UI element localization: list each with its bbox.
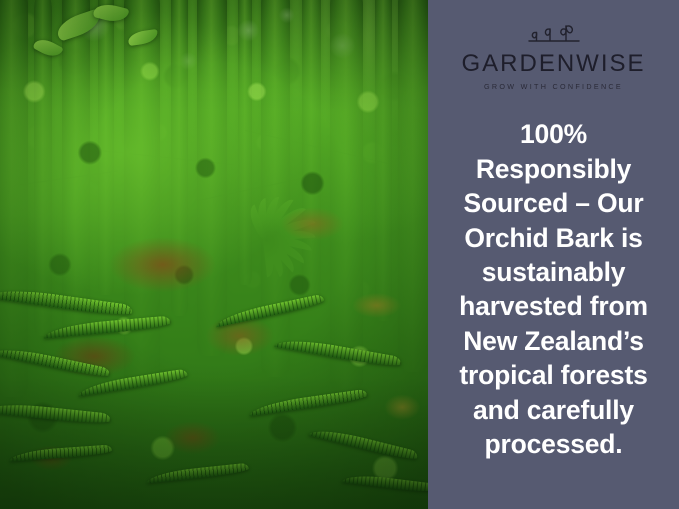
headline-line: processed. [485, 429, 623, 459]
headline-line: Responsibly [476, 154, 631, 184]
brand-tagline: GROW WITH CONFIDENCE [484, 82, 623, 91]
three-sprouting-plants-icon [519, 20, 589, 48]
headline-line: New Zealand’s [463, 326, 644, 356]
forest-photo [0, 0, 428, 509]
brand-logo: GARDENWISE GROW WITH CONFIDENCE [428, 20, 679, 91]
headline-text: 100%ResponsiblySourced – OurOrchid Bark … [428, 117, 679, 461]
brand-name: GARDENWISE [461, 51, 645, 76]
headline-line: and carefully [473, 395, 634, 425]
headline-line: sustainably [482, 257, 626, 287]
headline-line: Sourced – Our [463, 188, 643, 218]
headline-line: 100% [520, 119, 587, 149]
photo-vignette [0, 0, 428, 509]
product-marketing-banner: GARDENWISE GROW WITH CONFIDENCE 100%Resp… [0, 0, 679, 509]
message-panel: GARDENWISE GROW WITH CONFIDENCE 100%Resp… [428, 0, 679, 509]
headline-line: harvested from [459, 291, 648, 321]
headline-line: Orchid Bark is [464, 223, 642, 253]
headline-line: tropical forests [459, 360, 647, 390]
